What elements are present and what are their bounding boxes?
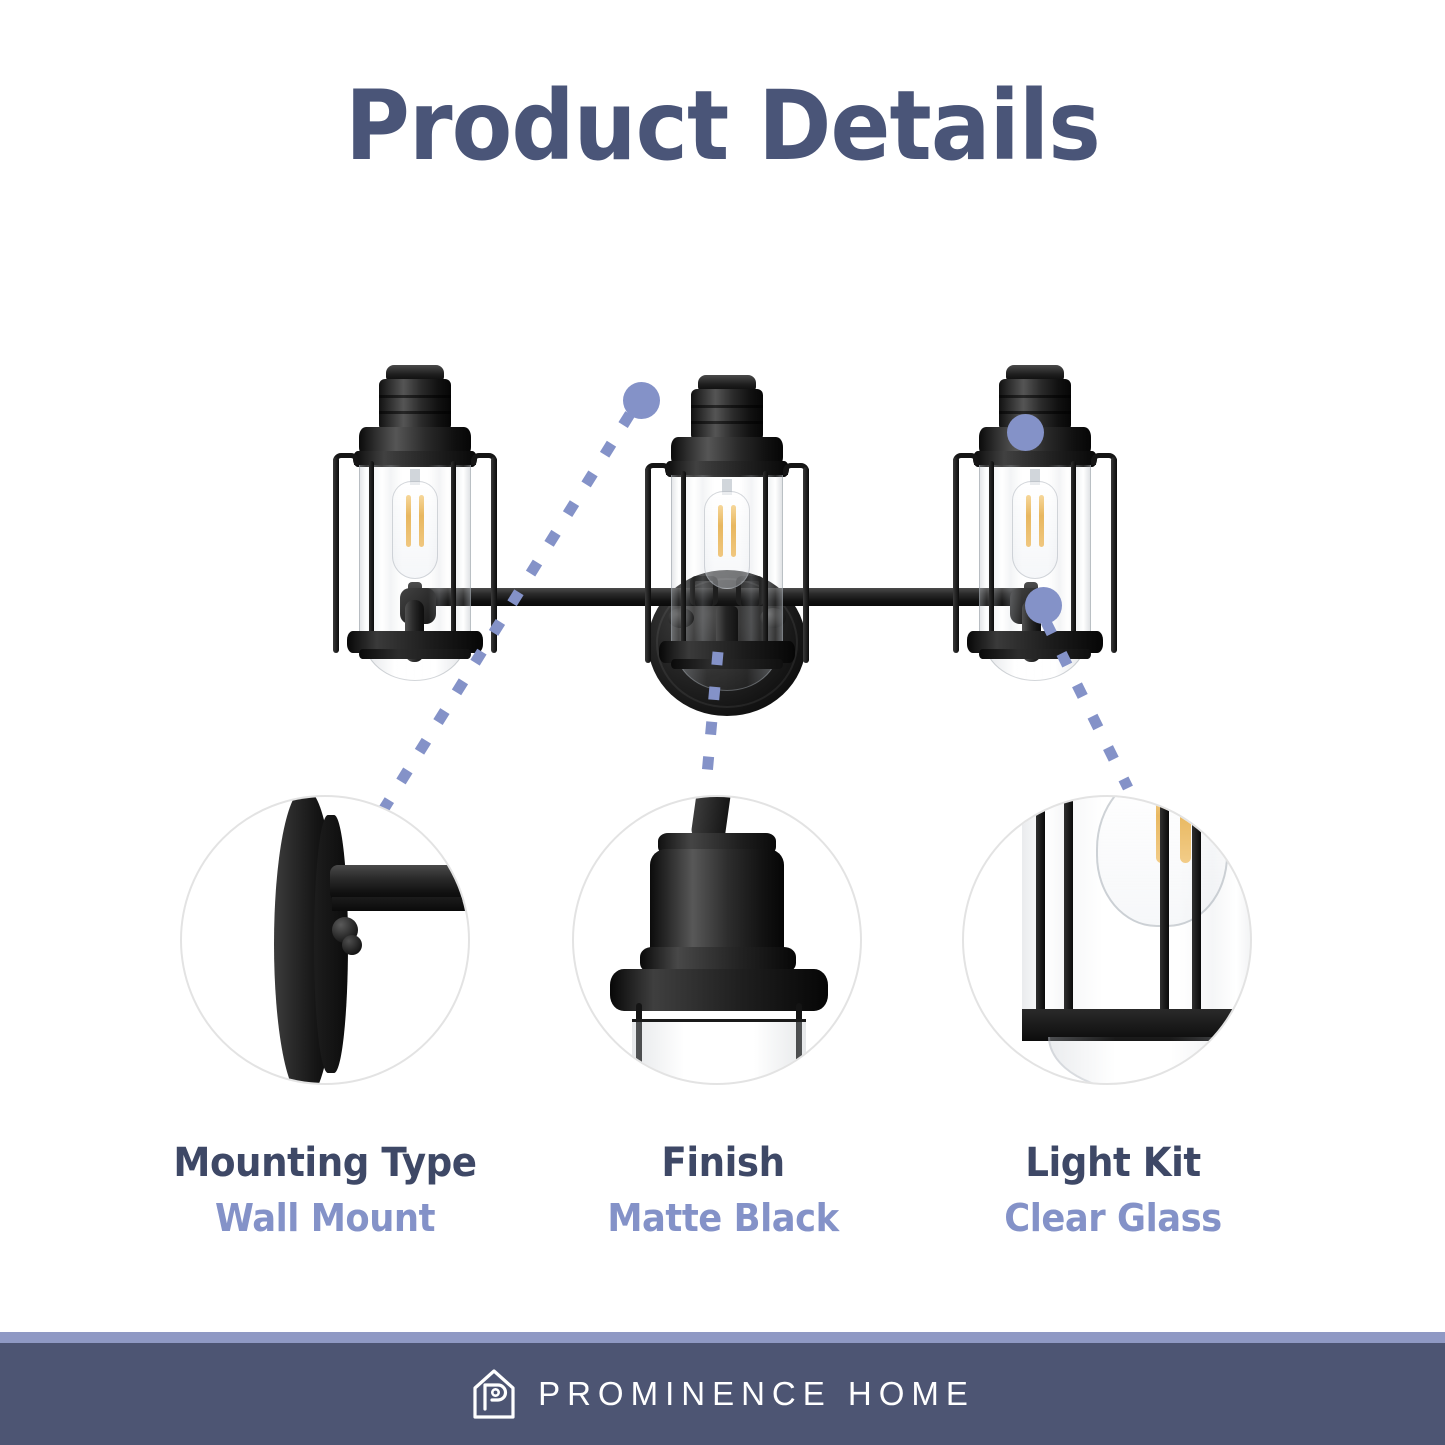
cage-side-bar: [645, 467, 651, 663]
cage-base-ring-inner: [359, 649, 471, 659]
light-kit-cage-bar: [1036, 795, 1045, 1023]
lamp-center: [647, 375, 807, 675]
filament-icon: [731, 505, 736, 557]
caption-value: Matte Black: [542, 1196, 905, 1240]
marker-dot-mounting: [623, 382, 660, 419]
mounting-arm-shadow: [332, 897, 470, 911]
edison-bulb: [392, 481, 438, 579]
caption-finish: Finish Matte Black: [528, 1140, 918, 1240]
caption-mounting-type: Mounting Type Wall Mount: [130, 1140, 520, 1240]
cage-side-bar: [953, 457, 959, 653]
filament-icon: [406, 495, 411, 547]
caption-title: Finish: [542, 1140, 905, 1186]
caption-title: Mounting Type: [144, 1140, 507, 1186]
filament-icon: [1039, 495, 1044, 547]
edison-bulb: [704, 491, 750, 589]
caption-light-kit: Light Kit Clear Glass: [918, 1140, 1308, 1240]
footer-brand-text: PROMINENCE HOME: [538, 1375, 975, 1413]
cage-base-ring-inner: [979, 649, 1091, 659]
cage-bar: [763, 471, 768, 661]
finish-glass-lip: [632, 1019, 806, 1085]
detail-circle-mounting-type: [180, 795, 470, 1085]
cage-base-ring-inner: [671, 659, 783, 669]
page-title: Product Details: [58, 70, 1387, 182]
detail-circle-finish: [572, 795, 862, 1085]
hero-product-image: [0, 270, 1445, 700]
cage-side-bar: [491, 457, 497, 653]
edison-bulb: [1012, 481, 1058, 579]
caption-value: Clear Glass: [932, 1196, 1295, 1240]
light-kit-cage-bar: [1192, 795, 1201, 1023]
cage-bar: [989, 461, 994, 651]
filament-icon: [718, 505, 723, 557]
light-kit-cage-bar: [1064, 795, 1073, 1023]
footer-bar: PROMINENCE HOME: [0, 1343, 1445, 1445]
socket-housing: [379, 379, 451, 431]
prominence-home-house-p-logo: [470, 1368, 518, 1420]
product-details-page: Product Details: [0, 0, 1445, 1445]
light-kit-glass-bottom: [1048, 1037, 1238, 1085]
lamp-left: [335, 365, 495, 665]
socket-housing: [691, 389, 763, 441]
cage-bar: [1071, 461, 1076, 651]
cage-side-bar: [1111, 457, 1117, 653]
marker-dot-lightkit: [1025, 587, 1062, 624]
cage-bar: [451, 461, 456, 651]
caption-title: Light Kit: [932, 1140, 1295, 1186]
light-kit-cage-bar: [1160, 795, 1169, 1023]
detail-circle-light-kit: [962, 795, 1252, 1085]
marker-dot-finish: [1007, 414, 1044, 451]
footer-accent-strip: [0, 1332, 1445, 1343]
light-kit-filament-icon: [1180, 795, 1191, 863]
cage-bar: [369, 461, 374, 651]
filament-icon: [1026, 495, 1031, 547]
mounting-ball-detail: [342, 935, 362, 955]
filament-icon: [419, 495, 424, 547]
caption-value: Wall Mount: [144, 1196, 507, 1240]
mounting-arm-pipe: [330, 865, 470, 901]
cage-bar: [681, 471, 686, 661]
cage-side-bar: [333, 457, 339, 653]
finish-socket-body: [650, 849, 784, 957]
cage-side-bar: [803, 467, 809, 663]
